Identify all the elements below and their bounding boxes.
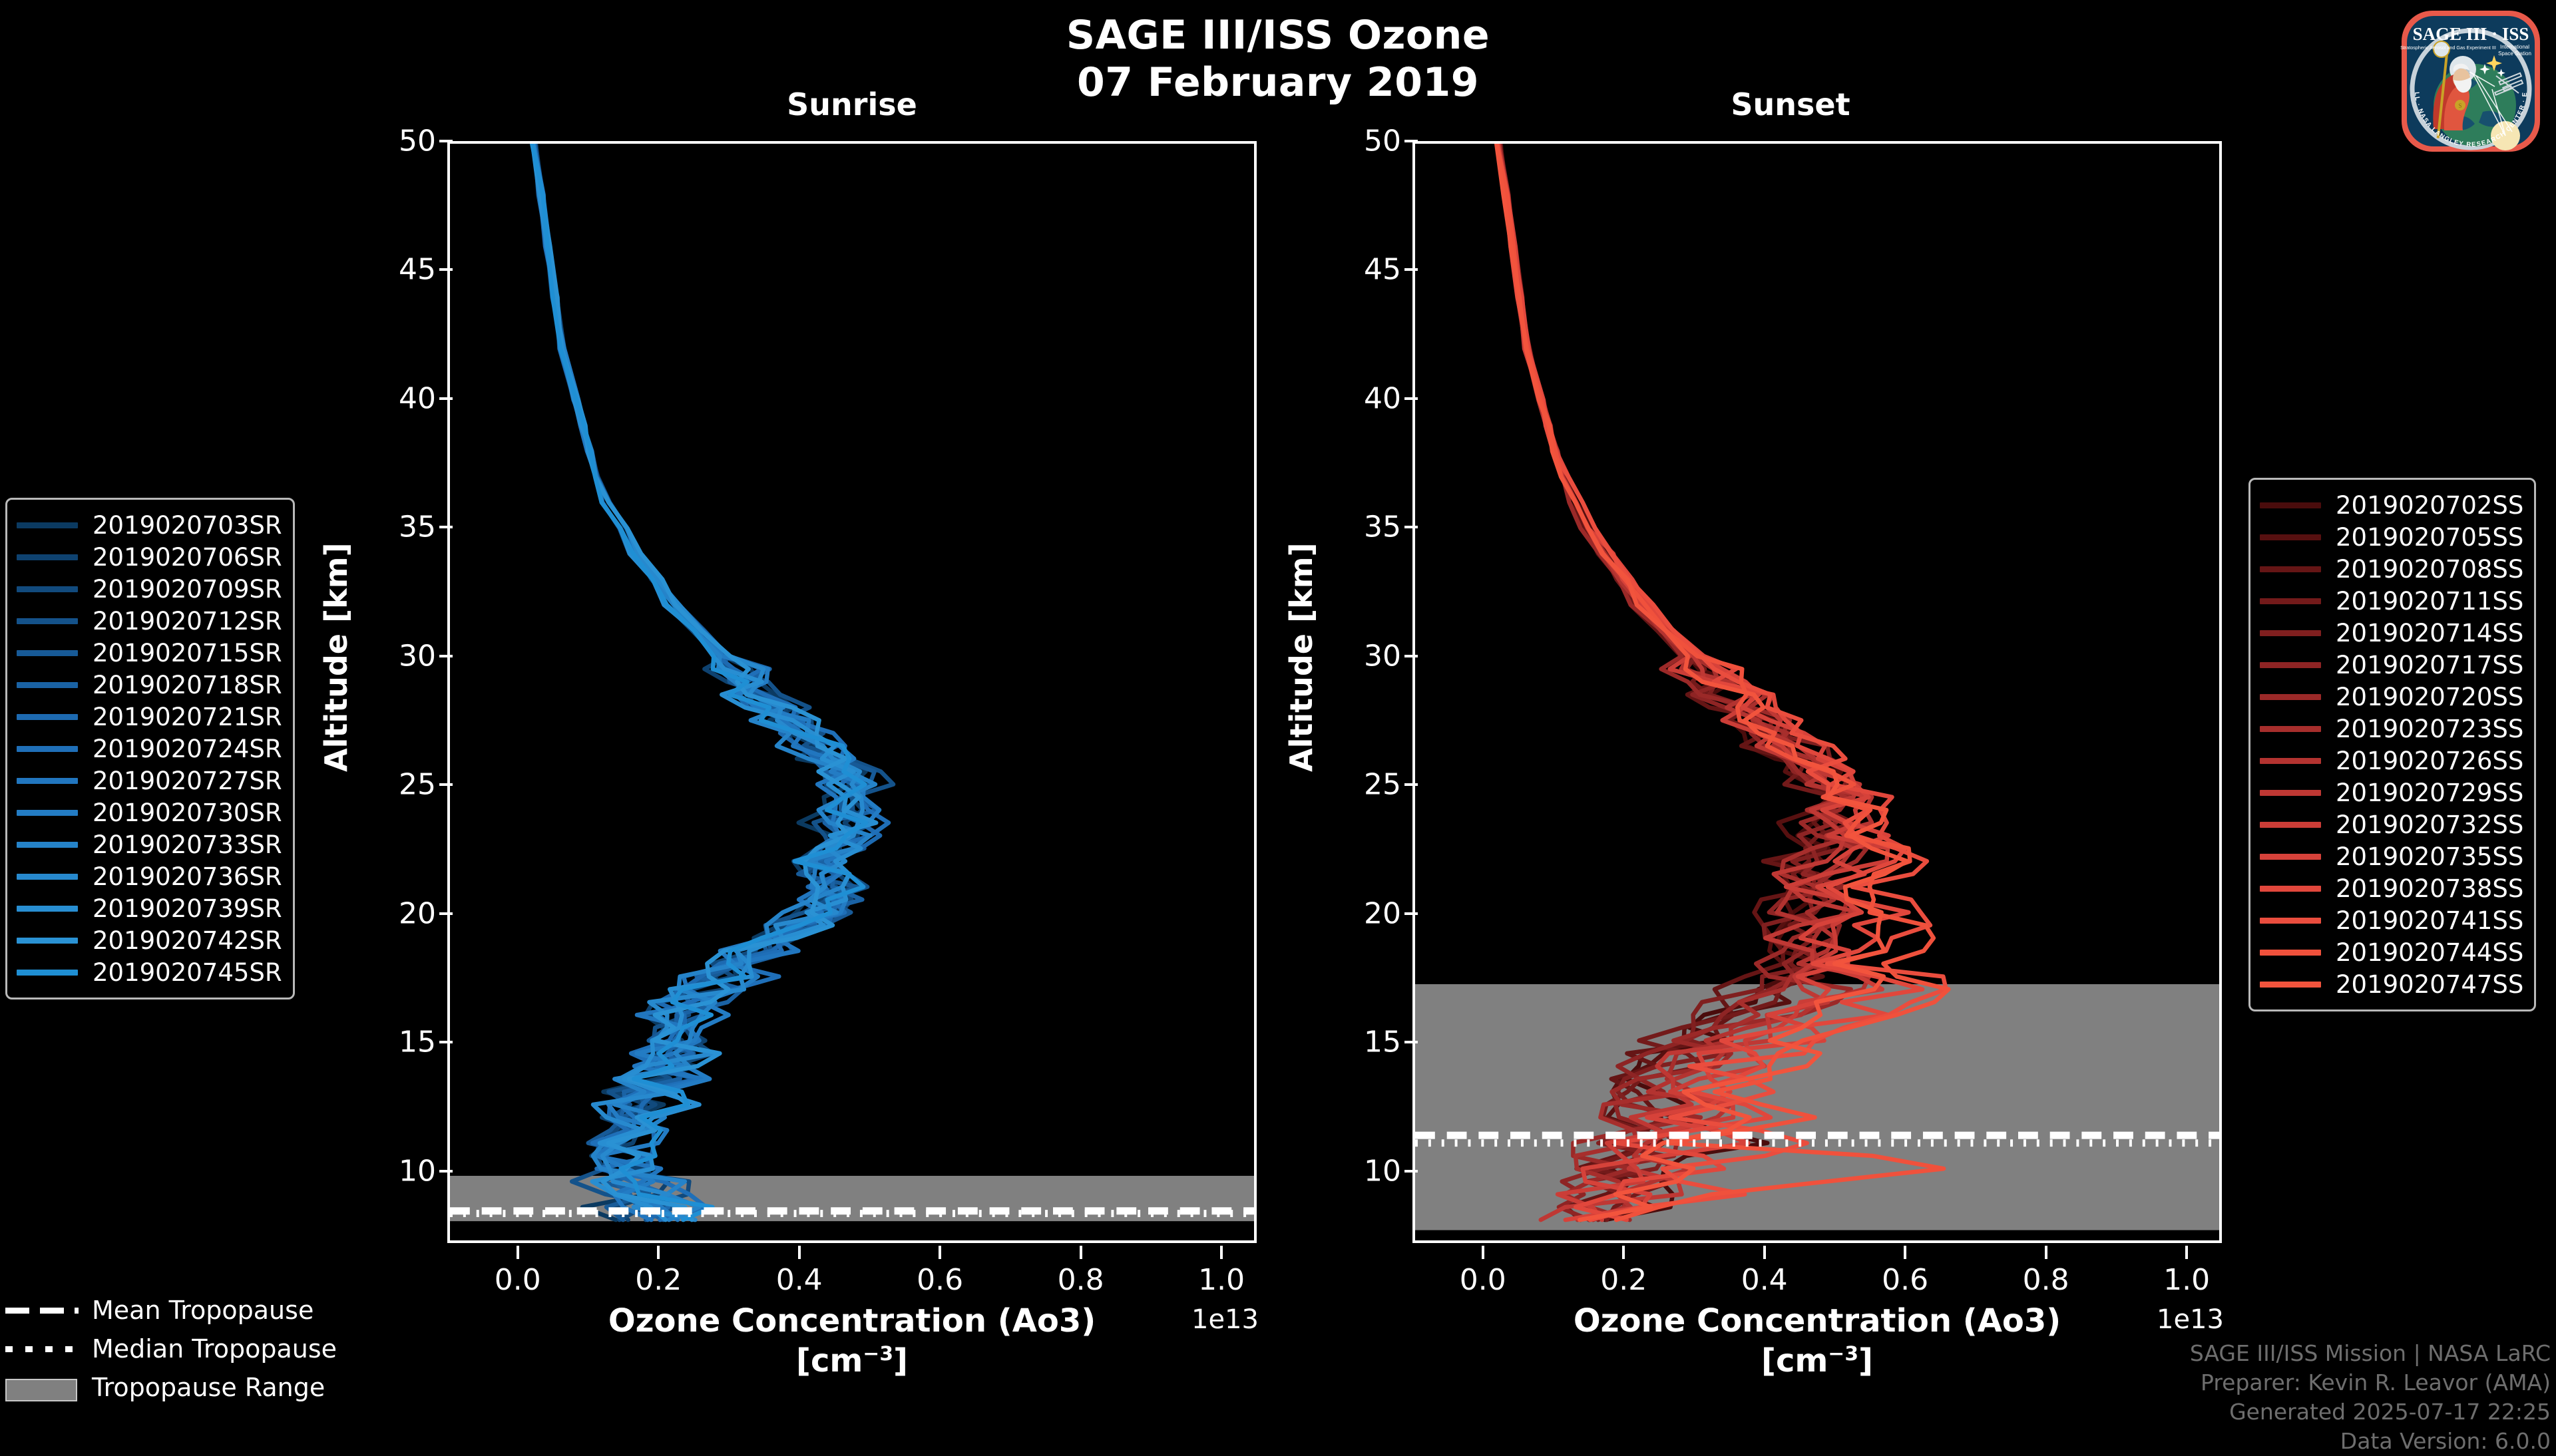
- tropopause-range-swatch: [5, 1379, 77, 1401]
- x-axis-label-line2: [cm−3]: [447, 1341, 1257, 1381]
- sage-iii-iss-logo: S BALL · NASA LANGLEY RESEARCH CENTER · …: [2395, 5, 2547, 157]
- credits-line: Data Version: 6.0.0: [2190, 1427, 2551, 1456]
- legend-item-label: 2019020739SR: [93, 894, 282, 923]
- legend-item-label: 2019020738SS: [2336, 874, 2523, 903]
- legend-color-swatch: [2260, 758, 2321, 764]
- legend-color-swatch: [2260, 598, 2321, 604]
- legend-item-label: 2019020735SS: [2336, 842, 2523, 871]
- tropopause-range-band: [1415, 984, 2219, 1230]
- y-tick-mark: [439, 1041, 453, 1043]
- legend-color-swatch: [17, 554, 78, 560]
- legend-item-label: 2019020712SR: [93, 607, 282, 636]
- x-tick-mark: [2045, 1246, 2047, 1259]
- y-tick-mark: [1404, 140, 1418, 142]
- y-tick-mark: [439, 140, 453, 142]
- legend-item-label: 2019020717SS: [2336, 651, 2523, 679]
- y-tick-label: 40: [1325, 381, 1401, 415]
- legend-item[interactable]: 2019020714SS: [2260, 617, 2523, 649]
- x-tick-label: 0.8: [1058, 1263, 1104, 1297]
- legend-item-label: 2019020709SR: [93, 575, 282, 604]
- legend-item[interactable]: 2019020721SR: [17, 701, 282, 733]
- y-tick-mark: [439, 268, 453, 271]
- y-tick-label: 50: [1325, 124, 1401, 158]
- ozone-profile-line: [533, 144, 879, 1220]
- legend-color-swatch: [17, 970, 78, 976]
- y-tick-label: 30: [1325, 639, 1401, 673]
- credits-line: SAGE III/ISS Mission | NASA LaRC: [2190, 1339, 2551, 1368]
- dotted-line-swatch: [5, 1346, 79, 1352]
- sunset-x-axis: 0.00.20.40.60.81.0: [1412, 1246, 2222, 1299]
- legend-color-swatch: [2260, 630, 2321, 636]
- legend-item-label: 2019020736SR: [93, 862, 282, 891]
- legend-color-swatch: [17, 714, 78, 720]
- legend-item-label: 2019020711SS: [2336, 587, 2523, 616]
- legend-item[interactable]: 2019020732SS: [2260, 809, 2523, 840]
- x-tick-label: 0.2: [635, 1263, 682, 1297]
- legend-item-label: 2019020723SS: [2336, 715, 2523, 743]
- tropopause-legend-item: Mean Tropopause: [5, 1291, 337, 1330]
- legend-color-swatch: [2260, 982, 2321, 988]
- legend-color-swatch: [2260, 534, 2321, 540]
- legend-item[interactable]: 2019020706SR: [17, 541, 282, 573]
- legend-color-swatch: [17, 906, 78, 912]
- legend-item[interactable]: 2019020733SR: [17, 828, 282, 860]
- y-tick-mark: [439, 783, 453, 786]
- legend-color-swatch: [17, 778, 78, 784]
- legend-item-label: 2019020706SR: [93, 543, 282, 572]
- legend-item[interactable]: 2019020711SS: [2260, 585, 2523, 617]
- legend-item[interactable]: 2019020717SS: [2260, 649, 2523, 681]
- sunrise-plot-svg: [450, 144, 1254, 1240]
- y-tick-mark: [439, 526, 453, 528]
- logo-subtitle-right-1: International: [2500, 44, 2529, 50]
- y-tick-label: 40: [359, 381, 436, 415]
- legend-item[interactable]: 2019020729SS: [2260, 777, 2523, 809]
- sunset-x-axis-offset: 1e13: [2157, 1304, 2224, 1335]
- legend-item[interactable]: 2019020727SR: [17, 765, 282, 797]
- sunset-y-axis-label: Altitude [km]: [1283, 542, 1319, 772]
- legend-item[interactable]: 2019020739SR: [17, 892, 282, 924]
- y-tick-mark: [1404, 397, 1418, 400]
- sunset-plot-area: [1412, 141, 2222, 1243]
- legend-color-swatch: [2260, 822, 2321, 828]
- logo-subtitle-left: Stratospheric Aerosol and Gas Experiment…: [2400, 45, 2496, 51]
- tropopause-legend-item: Median Tropopause: [5, 1330, 337, 1368]
- x-tick-label: 0.0: [495, 1263, 541, 1297]
- tropopause-legend-label: Median Tropopause: [92, 1334, 337, 1364]
- y-tick-mark: [1404, 268, 1418, 271]
- legend-color-swatch: [17, 682, 78, 688]
- legend-item[interactable]: 2019020724SR: [17, 733, 282, 765]
- legend-color-swatch: [2260, 694, 2321, 700]
- legend-color-swatch: [2260, 886, 2321, 892]
- y-tick-label: 20: [1325, 896, 1401, 930]
- x-tick-mark: [1080, 1246, 1082, 1259]
- legend-item[interactable]: 2019020709SR: [17, 573, 282, 605]
- sunset-x-axis-label: Ozone Concentration (Ao3) [cm−3]: [1412, 1301, 2222, 1381]
- legend-color-swatch: [2260, 662, 2321, 668]
- legend-item-label: 2019020702SS: [2336, 491, 2523, 520]
- legend-item[interactable]: 2019020718SR: [17, 669, 282, 701]
- y-tick-mark: [439, 397, 453, 400]
- x-tick-mark: [1622, 1246, 1625, 1259]
- y-tick-label: 25: [1325, 768, 1401, 802]
- y-tick-label: 45: [359, 253, 436, 287]
- y-tick-mark: [439, 655, 453, 657]
- tropopause-legend: Mean TropopauseMedian TropopauseTropopau…: [5, 1291, 337, 1407]
- legend-color-swatch: [2260, 950, 2321, 956]
- x-tick-label: 0.4: [776, 1263, 823, 1297]
- ozone-profile-line: [534, 144, 874, 1220]
- tropopause-legend-key: [5, 1379, 79, 1396]
- legend-item-label: 2019020720SS: [2336, 683, 2523, 711]
- mission-patch-icon: S BALL · NASA LANGLEY RESEARCH CENTER · …: [2395, 5, 2547, 157]
- legend-item-label: 2019020708SS: [2336, 555, 2523, 584]
- x-tick-mark: [1482, 1246, 1484, 1259]
- x-tick-mark: [517, 1246, 519, 1259]
- x-tick-mark: [2185, 1246, 2188, 1259]
- y-tick-label: 10: [1325, 1154, 1401, 1188]
- y-tick-mark: [439, 1170, 453, 1173]
- legend-item-label: 2019020730SR: [93, 799, 282, 827]
- legend-item[interactable]: 2019020708SS: [2260, 553, 2523, 585]
- y-tick-label: 30: [359, 639, 436, 673]
- legend-item[interactable]: 2019020712SR: [17, 605, 282, 637]
- legend-item-label: 2019020727SR: [93, 767, 282, 795]
- y-tick-mark: [1404, 655, 1418, 657]
- x-tick-mark: [939, 1246, 941, 1259]
- legend-item[interactable]: 2019020744SS: [2260, 936, 2523, 968]
- legend-color-swatch: [17, 650, 78, 656]
- legend-color-swatch: [17, 522, 78, 528]
- legend-color-swatch: [2260, 854, 2321, 860]
- x-axis-label-line1: Ozone Concentration (Ao3): [447, 1301, 1257, 1341]
- ozone-profile-line: [532, 144, 862, 1220]
- x-axis-label-line2: [cm−3]: [1412, 1341, 2222, 1381]
- legend-item[interactable]: 2019020703SR: [17, 509, 282, 541]
- x-tick-label: 0.4: [1741, 1263, 1788, 1297]
- ozone-profile-line: [534, 144, 878, 1220]
- y-tick-label: 35: [359, 510, 436, 544]
- sunrise-y-axis-label: Altitude [km]: [318, 542, 354, 772]
- legend-item[interactable]: 2019020705SS: [2260, 521, 2523, 553]
- x-tick-label: 0.6: [1882, 1263, 1928, 1297]
- legend-color-swatch: [2260, 790, 2321, 796]
- ozone-profile-line: [533, 144, 875, 1220]
- y-tick-mark: [1404, 912, 1418, 915]
- legend-color-swatch: [2260, 566, 2321, 572]
- legend-item[interactable]: 2019020726SS: [2260, 745, 2523, 777]
- legend-item-label: 2019020714SS: [2336, 619, 2523, 647]
- credits-line: Generated 2025-07-17 22:25: [2190, 1397, 2551, 1427]
- x-tick-mark: [1220, 1246, 1223, 1259]
- x-tick-mark: [1763, 1246, 1766, 1259]
- legend-item-label: 2019020718SR: [93, 671, 282, 699]
- legend-item[interactable]: 2019020723SS: [2260, 713, 2523, 745]
- tropopause-legend-key: [5, 1302, 79, 1319]
- y-tick-label: 15: [359, 1025, 436, 1059]
- legend-item-label: 2019020705SS: [2336, 523, 2523, 552]
- legend-item-label: 2019020703SR: [93, 511, 282, 540]
- ozone-profile-line: [532, 144, 876, 1220]
- legend-item-label: 2019020715SR: [93, 639, 282, 667]
- legend-item[interactable]: 2019020738SS: [2260, 872, 2523, 904]
- logo-subtitle-right-2: Space Station: [2498, 51, 2531, 57]
- sunrise-y-axis: 101520253035404550: [359, 141, 436, 1243]
- dashed-line-swatch: [5, 1308, 79, 1314]
- tropopause-legend-key: [5, 1340, 79, 1358]
- legend-item[interactable]: 2019020702SS: [2260, 489, 2523, 521]
- legend-item-label: 2019020724SR: [93, 735, 282, 763]
- x-tick-label: 0.8: [2023, 1263, 2069, 1297]
- legend-item-label: 2019020745SR: [93, 958, 282, 987]
- sunset-y-axis: 101520253035404550: [1325, 141, 1401, 1243]
- legend-item-label: 2019020744SS: [2336, 938, 2523, 967]
- sunset-panel-title: Sunset: [1558, 87, 2023, 122]
- x-tick-label: 0.0: [1460, 1263, 1506, 1297]
- y-tick-mark: [1404, 783, 1418, 786]
- ozone-profile-line: [535, 144, 873, 1220]
- x-tick-label: 1.0: [1198, 1263, 1245, 1297]
- legend-color-swatch: [17, 810, 78, 816]
- legend-item[interactable]: 2019020747SS: [2260, 968, 2523, 1000]
- legend-color-swatch: [17, 842, 78, 848]
- title-line-1: SAGE III/ISS Ozone: [852, 12, 1704, 59]
- svg-text:S: S: [2458, 102, 2461, 109]
- legend-item[interactable]: 2019020730SR: [17, 797, 282, 828]
- legend-item-label: 2019020726SS: [2336, 747, 2523, 775]
- legend-item-label: 2019020721SR: [93, 703, 282, 731]
- legend-item-label: 2019020729SS: [2336, 779, 2523, 807]
- sunrise-x-axis-offset: 1e13: [1191, 1304, 1259, 1335]
- y-tick-mark: [1404, 1041, 1418, 1043]
- legend-item[interactable]: 2019020736SR: [17, 860, 282, 892]
- legend-color-swatch: [17, 586, 78, 592]
- legend-item[interactable]: 2019020742SR: [17, 924, 282, 956]
- sunset-plot-svg: [1415, 144, 2219, 1240]
- legend-item-label: 2019020732SS: [2336, 811, 2523, 839]
- y-tick-label: 10: [359, 1154, 436, 1188]
- sunrise-series-legend[interactable]: 2019020703SR2019020706SR2019020709SR2019…: [5, 498, 295, 1000]
- legend-color-swatch: [17, 874, 78, 880]
- legend-color-swatch: [2260, 726, 2321, 732]
- y-tick-mark: [439, 912, 453, 915]
- legend-item-label: 2019020742SR: [93, 926, 282, 955]
- x-tick-mark: [798, 1246, 801, 1259]
- sunrise-x-axis-label: Ozone Concentration (Ao3) [cm−3]: [447, 1301, 1257, 1381]
- legend-color-swatch: [17, 746, 78, 752]
- legend-color-swatch: [2260, 918, 2321, 924]
- legend-item[interactable]: 2019020715SR: [17, 637, 282, 669]
- sunrise-plot-area: [447, 141, 1257, 1243]
- tropopause-legend-label: Mean Tropopause: [92, 1296, 314, 1325]
- sunrise-panel-title: Sunrise: [619, 87, 1085, 122]
- y-tick-mark: [1404, 526, 1418, 528]
- legend-item-label: 2019020741SS: [2336, 906, 2523, 935]
- x-tick-label: 1.0: [2163, 1263, 2210, 1297]
- x-tick-label: 0.2: [1600, 1263, 1647, 1297]
- tropopause-legend-item: Tropopause Range: [5, 1368, 337, 1407]
- y-tick-label: 25: [359, 768, 436, 802]
- x-tick-mark: [657, 1246, 660, 1259]
- y-tick-label: 15: [1325, 1025, 1401, 1059]
- x-axis-label-line1: Ozone Concentration (Ao3): [1412, 1301, 2222, 1341]
- y-tick-label: 20: [359, 896, 436, 930]
- x-tick-mark: [1904, 1246, 1906, 1259]
- tropopause-legend-label: Tropopause Range: [92, 1373, 325, 1402]
- legend-color-swatch: [17, 618, 78, 624]
- legend-item-label: 2019020747SS: [2336, 970, 2523, 999]
- sunset-series-legend[interactable]: 2019020702SS2019020705SS2019020708SS2019…: [2248, 478, 2536, 1011]
- x-tick-label: 0.6: [917, 1263, 963, 1297]
- credits-block: SAGE III/ISS Mission | NASA LaRCPreparer…: [2190, 1339, 2551, 1456]
- y-tick-label: 50: [359, 124, 436, 158]
- y-tick-mark: [1404, 1170, 1418, 1173]
- y-tick-label: 45: [1325, 253, 1401, 287]
- legend-color-swatch: [17, 938, 78, 944]
- sunrise-x-axis: 0.00.20.40.60.81.0: [447, 1246, 1257, 1299]
- legend-item[interactable]: 2019020741SS: [2260, 904, 2523, 936]
- legend-item-label: 2019020733SR: [93, 830, 282, 859]
- legend-color-swatch: [2260, 502, 2321, 508]
- credits-line: Preparer: Kevin R. Leavor (AMA): [2190, 1368, 2551, 1397]
- legend-item[interactable]: 2019020735SS: [2260, 840, 2523, 872]
- logo-title: SAGE III · ISS: [2413, 24, 2529, 44]
- legend-item[interactable]: 2019020745SR: [17, 956, 282, 988]
- y-tick-label: 35: [1325, 510, 1401, 544]
- legend-item[interactable]: 2019020720SS: [2260, 681, 2523, 713]
